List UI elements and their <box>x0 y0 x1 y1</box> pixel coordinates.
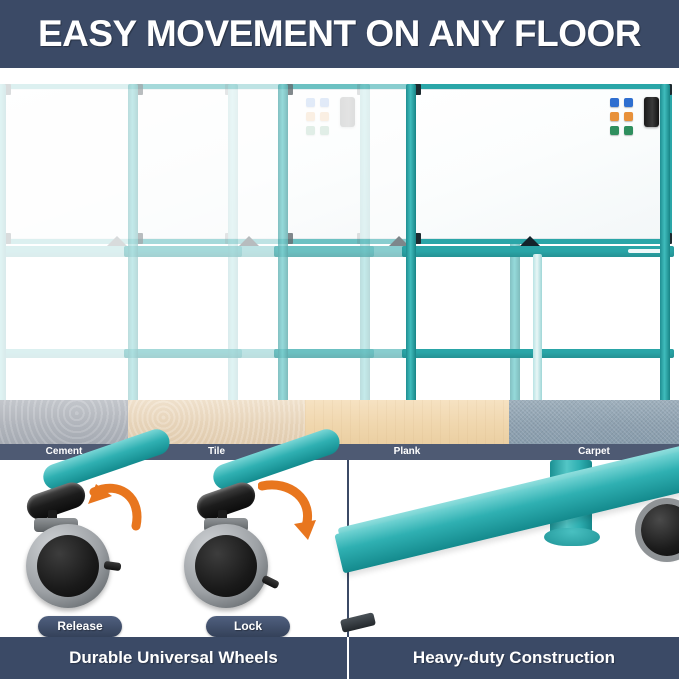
pen-ledge-highlight <box>628 249 664 253</box>
panel-heavy-duty: Heavy-duty Construction <box>349 460 679 679</box>
badge-release[interactable]: Release <box>38 616 122 637</box>
caster-release-illustration: Release <box>8 466 168 616</box>
caster-wheel-hub <box>37 535 99 597</box>
board-eraser-icon <box>644 97 659 127</box>
base-beam <box>334 448 679 573</box>
magnet-blue-icon <box>624 98 633 107</box>
product-infographic: EASY MOVEMENT ON ANY FLOOR <box>0 0 679 679</box>
page-title: EASY MOVEMENT ON ANY FLOOR <box>0 13 679 55</box>
magnet-orange-icon <box>610 112 619 121</box>
magnet-cluster <box>610 98 633 135</box>
feature-panels: Release Lock Durable Universal Wheels <box>0 460 679 679</box>
frame-leg-left <box>278 84 288 414</box>
frame-leg-left <box>406 84 416 414</box>
frame-leg-left <box>0 84 6 414</box>
panel-durable-wheels: Release Lock Durable Universal Wheels <box>0 460 347 679</box>
frame-leg-left <box>128 84 138 414</box>
rotation-arrow-icon <box>258 480 320 542</box>
magnet-green-icon <box>610 126 619 135</box>
frame-leg-right <box>660 84 670 414</box>
brake-lever-engaged <box>261 575 280 590</box>
whiteboard-panel <box>410 84 672 244</box>
header-banner: EASY MOVEMENT ON ANY FLOOR <box>0 0 679 68</box>
caster-lock-illustration: Lock <box>178 466 338 616</box>
magnet-green-icon <box>624 126 633 135</box>
floor-segment-carpet <box>509 400 679 444</box>
post-weld-joint <box>544 528 600 546</box>
caption-heavy-duty: Heavy-duty Construction <box>349 637 679 679</box>
magnet-orange-icon <box>624 112 633 121</box>
magnet-blue-icon <box>610 98 619 107</box>
frame-leg-center <box>533 254 542 414</box>
floor-segment-cement <box>0 400 128 444</box>
caster-wheel-icon <box>641 504 679 556</box>
caption-durable-wheels: Durable Universal Wheels <box>0 637 347 679</box>
rotation-arrow-icon <box>86 482 148 544</box>
badge-lock[interactable]: Lock <box>206 616 290 637</box>
caster-wheel-hub <box>195 535 257 597</box>
